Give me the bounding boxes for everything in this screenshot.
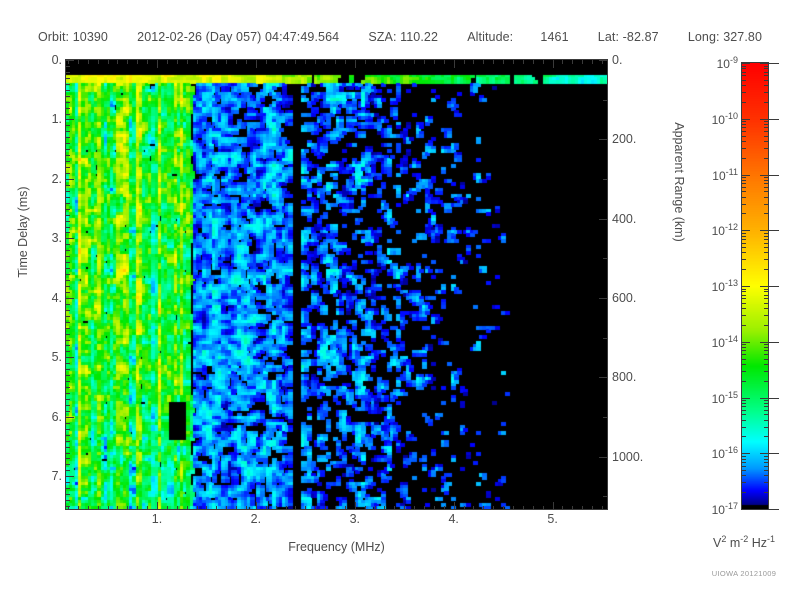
axis-tick	[226, 506, 227, 510]
x-axis-tick-label: 1.	[137, 512, 177, 526]
axis-tick	[384, 506, 385, 510]
colorbar-units-label: V2 m-2 Hz-1	[688, 534, 800, 550]
colorbar-tick	[764, 191, 768, 192]
axis-tick	[276, 60, 277, 64]
latitude-value: -82.87	[623, 30, 659, 44]
colorbar-tick-labels: 10-910-1010-1110-1210-1310-1410-1510-161…	[672, 62, 738, 510]
axis-tick	[414, 60, 415, 64]
colorbar-tick	[764, 148, 768, 149]
axis-tick	[66, 215, 70, 216]
axis-tick	[68, 506, 69, 510]
axis-tick	[246, 60, 247, 64]
colorbar-tick	[742, 124, 746, 125]
colorbar-tick	[769, 509, 779, 510]
colorbar-tick	[764, 492, 768, 493]
colorbar-tick-mantissa: 10	[717, 57, 730, 71]
colorbar-tick	[742, 315, 746, 316]
axis-tick	[533, 506, 534, 510]
colorbar-tick	[742, 204, 746, 205]
colorbar-tick	[742, 148, 746, 149]
datetime-value: 2012-02-26 (Day 057) 04:47:49.564	[137, 30, 339, 44]
colorbar-tick-exponent: -15	[725, 390, 738, 400]
axis-tick	[108, 506, 109, 510]
axis-tick	[602, 60, 603, 64]
colorbar-tick	[764, 252, 768, 253]
axis-tick	[66, 340, 70, 341]
axis-tick	[572, 506, 573, 510]
axis-tick	[365, 60, 366, 64]
axis-tick	[66, 304, 70, 305]
sza-label: SZA:	[368, 30, 396, 44]
longitude-label: Long:	[688, 30, 720, 44]
axis-tick	[236, 60, 237, 64]
y-axis-right-tick-label: 200.	[612, 132, 668, 146]
colorbar-tick	[764, 80, 768, 81]
axis-tick	[66, 334, 70, 335]
colorbar-tick	[769, 286, 779, 287]
colorbar-tick	[742, 177, 746, 178]
axis-tick	[345, 60, 346, 64]
axis-tick	[66, 137, 70, 138]
colorbar-tick	[742, 247, 746, 248]
colorbar-tick	[742, 400, 746, 401]
axis-tick	[66, 488, 70, 489]
axis-tick	[177, 506, 178, 510]
colorbar-tick-label: 10-13	[678, 278, 738, 294]
axis-tick	[66, 232, 70, 233]
colorbar-tick	[764, 482, 768, 483]
colorbar-tick-exponent: -17	[725, 501, 738, 511]
axis-tick	[599, 377, 607, 378]
colorbar-tick	[742, 403, 746, 404]
axis-tick	[603, 179, 607, 180]
axis-tick	[66, 197, 70, 198]
axis-tick	[483, 60, 484, 64]
axis-tick	[66, 286, 70, 287]
orbit-value: 10390	[73, 30, 108, 44]
colorbar-tick	[742, 175, 750, 176]
colorbar-tick-mantissa: 10	[712, 392, 725, 406]
colorbar-tick-mantissa: 10	[712, 336, 725, 350]
colorbar-tick	[764, 259, 768, 260]
colorbar-tick	[764, 92, 768, 93]
colorbar-tick	[764, 213, 768, 214]
axis-tick	[444, 506, 445, 510]
axis-tick	[66, 458, 70, 459]
colorbar-tick	[764, 75, 768, 76]
axis-tick	[246, 506, 247, 510]
colorbar-tick	[764, 420, 768, 421]
longitude-value: 327.80	[723, 30, 762, 44]
axis-tick	[335, 60, 336, 64]
axis-tick	[603, 338, 607, 339]
axis-tick	[108, 60, 109, 64]
colorbar-tick	[764, 403, 768, 404]
axis-tick	[66, 411, 70, 412]
colorbar-tick-exponent: -12	[725, 222, 738, 232]
colorbar-tick	[742, 63, 750, 64]
colorbar-tick	[742, 398, 750, 399]
axis-tick	[66, 155, 70, 156]
axis-tick	[127, 506, 128, 510]
axis-tick	[414, 506, 415, 510]
axis-tick	[404, 60, 405, 64]
axis-tick	[66, 375, 70, 376]
colorbar-tick-mantissa: 10	[712, 113, 725, 127]
colorbar-tick	[764, 66, 768, 67]
axis-tick	[66, 203, 70, 204]
colorbar-tick	[764, 298, 768, 299]
colorbar-tick	[742, 158, 746, 159]
axis-tick	[66, 405, 70, 406]
axis-tick	[266, 506, 267, 510]
axis-tick	[603, 100, 607, 101]
axis-tick	[66, 316, 70, 317]
axis-tick	[66, 173, 70, 174]
axis-tick	[454, 60, 455, 68]
colorbar-tick	[742, 187, 746, 188]
axis-tick	[66, 274, 70, 275]
axis-tick	[256, 502, 257, 510]
axis-tick	[206, 60, 207, 64]
colorbar-tick	[764, 347, 768, 348]
colorbar-tick	[742, 414, 746, 415]
axis-tick	[66, 72, 70, 73]
colorbar-tick	[742, 354, 746, 355]
colorbar-tick	[742, 466, 746, 467]
axis-tick	[66, 161, 70, 162]
colorbar-tick	[764, 243, 768, 244]
colorbar-tick	[742, 85, 746, 86]
axis-tick	[66, 96, 70, 97]
y-axis-right-tick-label: 600.	[612, 291, 668, 305]
colorbar-tick	[764, 371, 768, 372]
axis-tick	[66, 470, 70, 471]
axis-tick	[66, 441, 70, 442]
colorbar-tick	[742, 482, 746, 483]
colorbar-tick	[742, 180, 746, 181]
colorbar-tick	[760, 119, 768, 120]
axis-tick	[66, 435, 70, 436]
axis-tick	[286, 506, 287, 510]
x-axis-tick-label: 5.	[533, 512, 573, 526]
x-axis-tick-label: 2.	[236, 512, 276, 526]
axis-tick	[66, 227, 70, 228]
axis-tick	[66, 482, 70, 483]
colorbar-tick	[764, 344, 768, 345]
axis-tick	[66, 298, 74, 299]
colorbar-tick-mantissa: 10	[712, 280, 725, 294]
colorbar-tick	[742, 230, 750, 231]
axis-tick	[66, 209, 70, 210]
colorbar-tick	[742, 456, 746, 457]
colorbar-tick	[764, 325, 768, 326]
colorbar-tick	[764, 400, 768, 401]
colorbar-tick	[764, 427, 768, 428]
colorbar-tick	[742, 75, 746, 76]
colorbar-tick	[742, 183, 746, 184]
axis-tick	[226, 60, 227, 64]
axis-tick	[434, 506, 435, 510]
axis-tick	[66, 108, 70, 109]
axis-tick	[197, 60, 198, 64]
axis-tick	[276, 506, 277, 510]
colorbar-tick	[742, 213, 746, 214]
axis-tick	[355, 502, 356, 510]
axis-tick	[66, 322, 70, 323]
credit-watermark: UIOWA 20121009	[690, 569, 798, 578]
units-m-exponent: -2	[740, 534, 748, 544]
axis-tick	[503, 60, 504, 64]
colorbar-tick	[769, 342, 779, 343]
axis-tick	[503, 506, 504, 510]
axis-tick	[66, 328, 70, 329]
axis-tick	[599, 219, 607, 220]
axis-tick	[66, 357, 74, 358]
colorbar-tick	[764, 462, 768, 463]
y-axis-right-tick-label: 800.	[612, 370, 668, 384]
colorbar-tick	[764, 131, 768, 132]
axis-tick	[66, 256, 70, 257]
colorbar-tick	[742, 381, 746, 382]
colorbar-tick	[764, 136, 768, 137]
axis-tick	[127, 60, 128, 64]
ionogram-heatmap-panel	[65, 59, 608, 510]
colorbar-tick-mantissa: 10	[712, 447, 725, 461]
axis-tick	[157, 502, 158, 510]
axis-tick	[137, 60, 138, 64]
colorbar-tick	[760, 230, 768, 231]
colorbar-tick	[764, 466, 768, 467]
colorbar-tick-exponent: -11	[726, 167, 738, 177]
axis-tick	[167, 60, 168, 64]
colorbar-tick	[769, 453, 779, 454]
colorbar-tick	[742, 406, 746, 407]
colorbar-tick	[764, 359, 768, 360]
colorbar-tick	[764, 410, 768, 411]
colorbar-tick-label: 10-14	[678, 334, 738, 350]
axis-tick	[523, 506, 524, 510]
colorbar-tick	[760, 175, 768, 176]
axis-tick	[295, 60, 296, 64]
axis-tick	[216, 60, 217, 64]
axis-tick	[582, 60, 583, 64]
colorbar-tick	[760, 453, 768, 454]
colorbar-tick	[742, 131, 746, 132]
axis-tick	[325, 506, 326, 510]
colorbar-tick	[742, 92, 746, 93]
colorbar-tick	[742, 243, 746, 244]
colorbar-tick	[742, 80, 746, 81]
axis-tick	[88, 506, 89, 510]
axis-tick	[599, 298, 607, 299]
axis-tick	[187, 60, 188, 64]
axis-tick	[177, 60, 178, 64]
colorbar-tick-label: 10-16	[678, 445, 738, 461]
axis-tick	[66, 280, 70, 281]
axis-tick	[582, 506, 583, 510]
colorbar-tick	[764, 475, 768, 476]
axis-tick	[78, 60, 79, 64]
axis-tick	[157, 60, 158, 68]
axis-tick	[98, 60, 99, 64]
colorbar-tick	[764, 141, 768, 142]
colorbar-tick	[764, 414, 768, 415]
colorbar-tick-label: 10-12	[678, 222, 738, 238]
axis-tick	[375, 60, 376, 64]
colorbar-tick-mantissa: 10	[712, 503, 725, 517]
axis-tick	[375, 506, 376, 510]
colorbar-tick	[764, 354, 768, 355]
colorbar-tick	[742, 72, 746, 73]
colorbar-tick	[742, 325, 746, 326]
y-axis-left-tick-label: 5.	[22, 350, 62, 364]
colorbar-tick	[742, 371, 746, 372]
axis-tick	[66, 167, 70, 168]
axis-tick	[66, 464, 70, 465]
colorbar-tick	[742, 127, 746, 128]
axis-tick	[66, 429, 70, 430]
colorbar-tick	[764, 121, 768, 122]
axis-tick	[66, 179, 74, 180]
colorbar-tick	[764, 247, 768, 248]
colorbar-tick	[742, 289, 746, 290]
axis-tick	[66, 476, 74, 477]
axis-tick	[473, 60, 474, 64]
colorbar-tick	[742, 286, 750, 287]
axis-tick	[98, 506, 99, 510]
axis-tick	[384, 60, 385, 64]
axis-tick	[454, 502, 455, 510]
axis-tick	[599, 139, 607, 140]
colorbar-tick	[742, 350, 746, 351]
colorbar-tick	[742, 303, 746, 304]
colorbar-tick	[742, 68, 746, 69]
axis-tick	[533, 60, 534, 64]
axis-tick	[66, 292, 70, 293]
axis-tick	[464, 506, 465, 510]
colorbar-tick	[764, 308, 768, 309]
colorbar-tick	[760, 509, 768, 510]
colorbar-tick	[742, 459, 746, 460]
colorbar-tick	[742, 462, 746, 463]
axis-tick	[335, 506, 336, 510]
colorbar-tick	[742, 427, 746, 428]
colorbar-tick	[760, 398, 768, 399]
colorbar-tick	[764, 436, 768, 437]
colorbar-tick-exponent: -16	[725, 445, 738, 455]
axis-tick	[464, 60, 465, 64]
colorbar-tick	[764, 239, 768, 240]
axis-tick	[602, 506, 603, 510]
y-axis-left-tick-label: 6.	[22, 410, 62, 424]
colorbar-tick-exponent: -13	[725, 278, 738, 288]
axis-tick	[66, 78, 70, 79]
colorbar-tick	[742, 233, 746, 234]
colorbar-tick-exponent: -14	[725, 334, 738, 344]
axis-tick	[206, 506, 207, 510]
axis-tick	[147, 60, 148, 64]
colorbar-tick	[769, 63, 779, 64]
colorbar-tick	[742, 420, 746, 421]
colorbar-tick	[742, 259, 746, 260]
colorbar-tick	[764, 72, 768, 73]
axis-tick	[286, 60, 287, 64]
colorbar-tick	[742, 295, 746, 296]
axis-tick	[66, 345, 70, 346]
colorbar-tick	[760, 63, 768, 64]
axis-tick	[66, 125, 70, 126]
axis-tick	[394, 506, 395, 510]
colorbar-tick	[742, 344, 746, 345]
axis-tick	[603, 258, 607, 259]
colorbar-tick	[742, 236, 746, 237]
colorbar-tick	[764, 180, 768, 181]
axis-tick	[493, 60, 494, 64]
colorbar-tick	[764, 177, 768, 178]
colorbar-tick	[769, 230, 779, 231]
axis-tick	[66, 393, 70, 394]
colorbar-tick	[764, 233, 768, 234]
colorbar-tick	[764, 197, 768, 198]
axis-tick	[66, 84, 70, 85]
y-axis-left-tick-label: 1.	[22, 112, 62, 126]
axis-tick	[66, 102, 70, 103]
colorbar-tick	[742, 308, 746, 309]
colorbar-tick	[742, 410, 746, 411]
axis-tick	[295, 506, 296, 510]
axis-tick	[592, 506, 593, 510]
axis-tick	[473, 506, 474, 510]
axis-tick	[66, 363, 70, 364]
colorbar-tick	[742, 436, 746, 437]
axis-tick	[444, 60, 445, 64]
axis-tick	[592, 60, 593, 64]
colorbar-tick	[742, 298, 746, 299]
ionogram-heatmap-canvas	[66, 60, 607, 509]
colorbar-tick	[760, 286, 768, 287]
colorbar-tick-label: 10-9	[678, 55, 738, 71]
axis-tick	[66, 381, 70, 382]
axis-tick	[543, 506, 544, 510]
axis-tick	[305, 60, 306, 64]
axis-tick	[434, 60, 435, 64]
axis-tick	[117, 506, 118, 510]
axis-tick	[197, 506, 198, 510]
axis-tick	[483, 506, 484, 510]
axis-tick	[66, 500, 70, 501]
colorbar-tick	[742, 453, 750, 454]
axis-tick	[424, 506, 425, 510]
colorbar-tick	[764, 158, 768, 159]
axis-tick	[66, 447, 70, 448]
axis-tick	[599, 457, 607, 458]
y-axis-left-tick-label: 7.	[22, 469, 62, 483]
axis-tick	[66, 387, 70, 388]
units-hz-exponent: -1	[767, 534, 775, 544]
colorbar-tick	[769, 119, 779, 120]
axis-tick	[562, 60, 563, 64]
units-m: m	[730, 536, 740, 550]
colorbar-tick	[742, 359, 746, 360]
axis-tick	[513, 60, 514, 64]
axis-tick	[66, 351, 70, 352]
colorbar-tick	[764, 269, 768, 270]
colorbar-tick	[742, 121, 746, 122]
colorbar-tick	[764, 204, 768, 205]
colorbar-tick	[742, 342, 750, 343]
sza-value: 110.22	[400, 30, 438, 44]
